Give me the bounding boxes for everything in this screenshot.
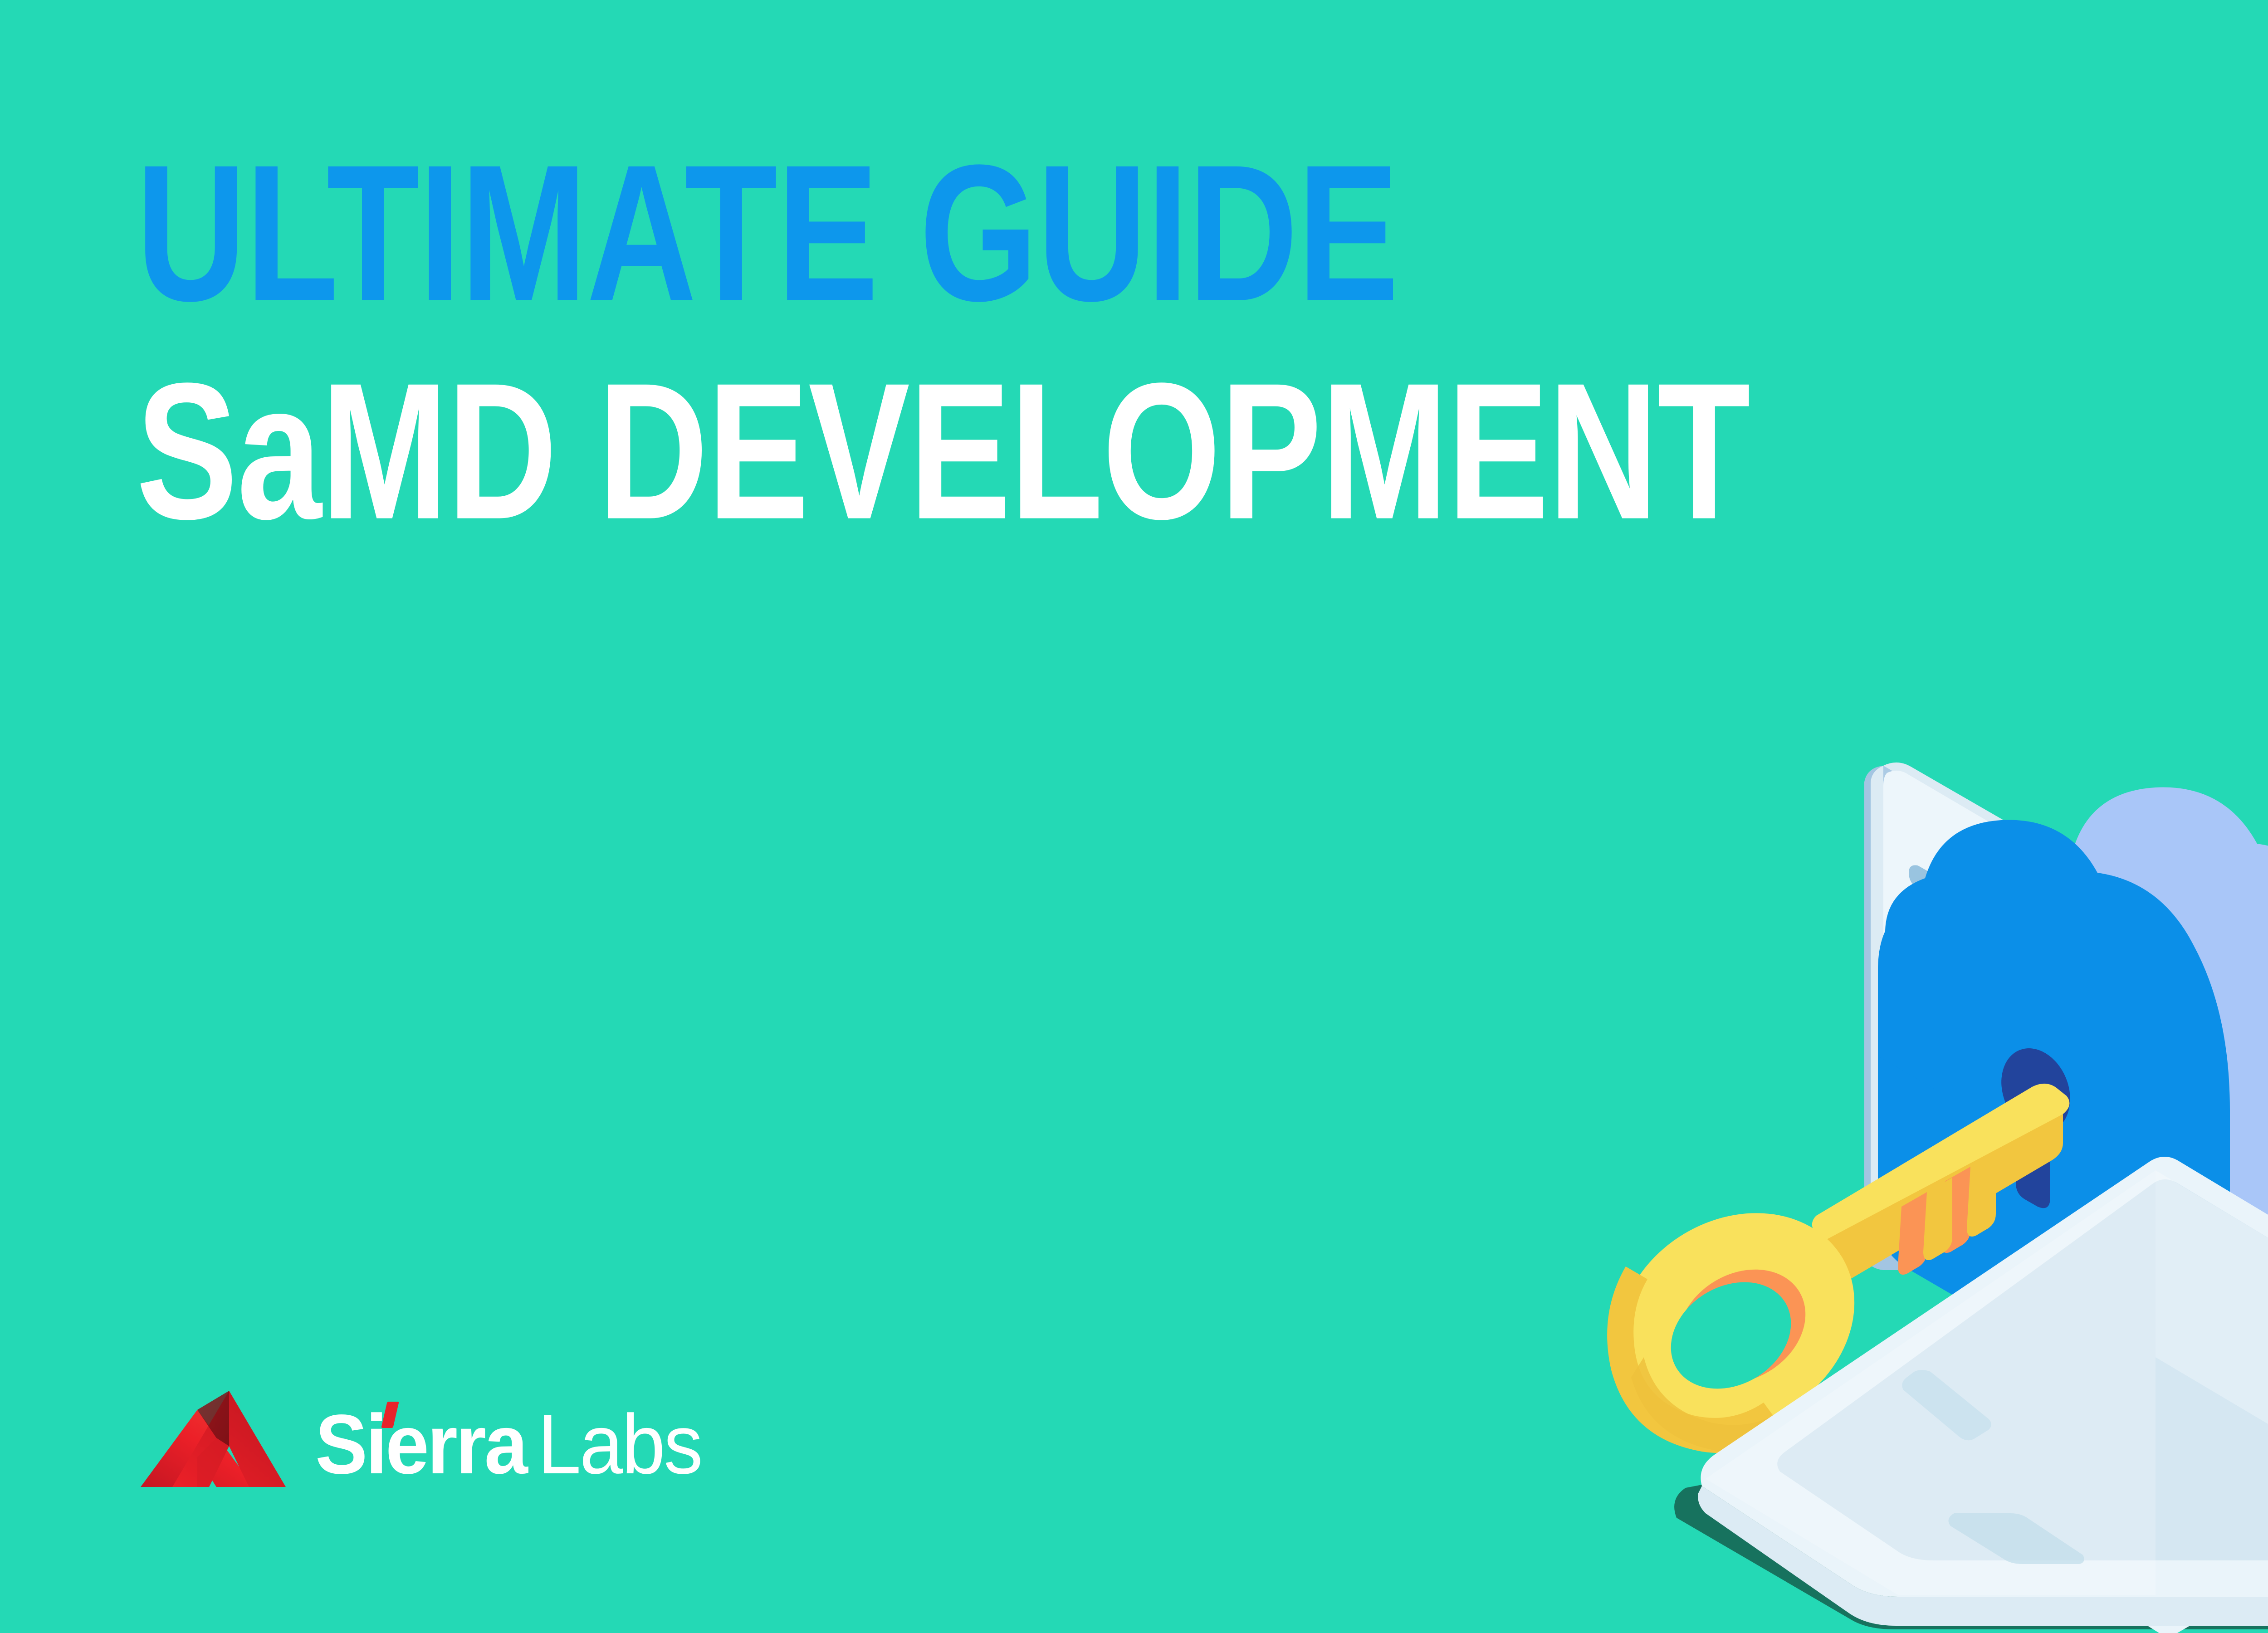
page-title-secondary: SaMD DEVELOPMENT — [136, 368, 1370, 535]
logo-wordmark: Sierra Labs — [315, 1403, 714, 1487]
brand-name-bold: Sierra — [315, 1403, 526, 1487]
hero-illustration — [1579, 581, 2268, 1633]
mountain-logo-icon — [138, 1388, 288, 1501]
brand-name-light: Labs — [538, 1403, 701, 1487]
page-title-primary: ULTIMATE GUIDE — [136, 150, 1370, 317]
sierralabs-logo[interactable]: Sierra Labs — [138, 1388, 714, 1501]
headline-block: ULTIMATE GUIDE SaMD DEVELOPMENT — [136, 150, 1678, 532]
banner-canvas: ULTIMATE GUIDE SaMD DEVELOPMENT — [0, 0, 2268, 1633]
